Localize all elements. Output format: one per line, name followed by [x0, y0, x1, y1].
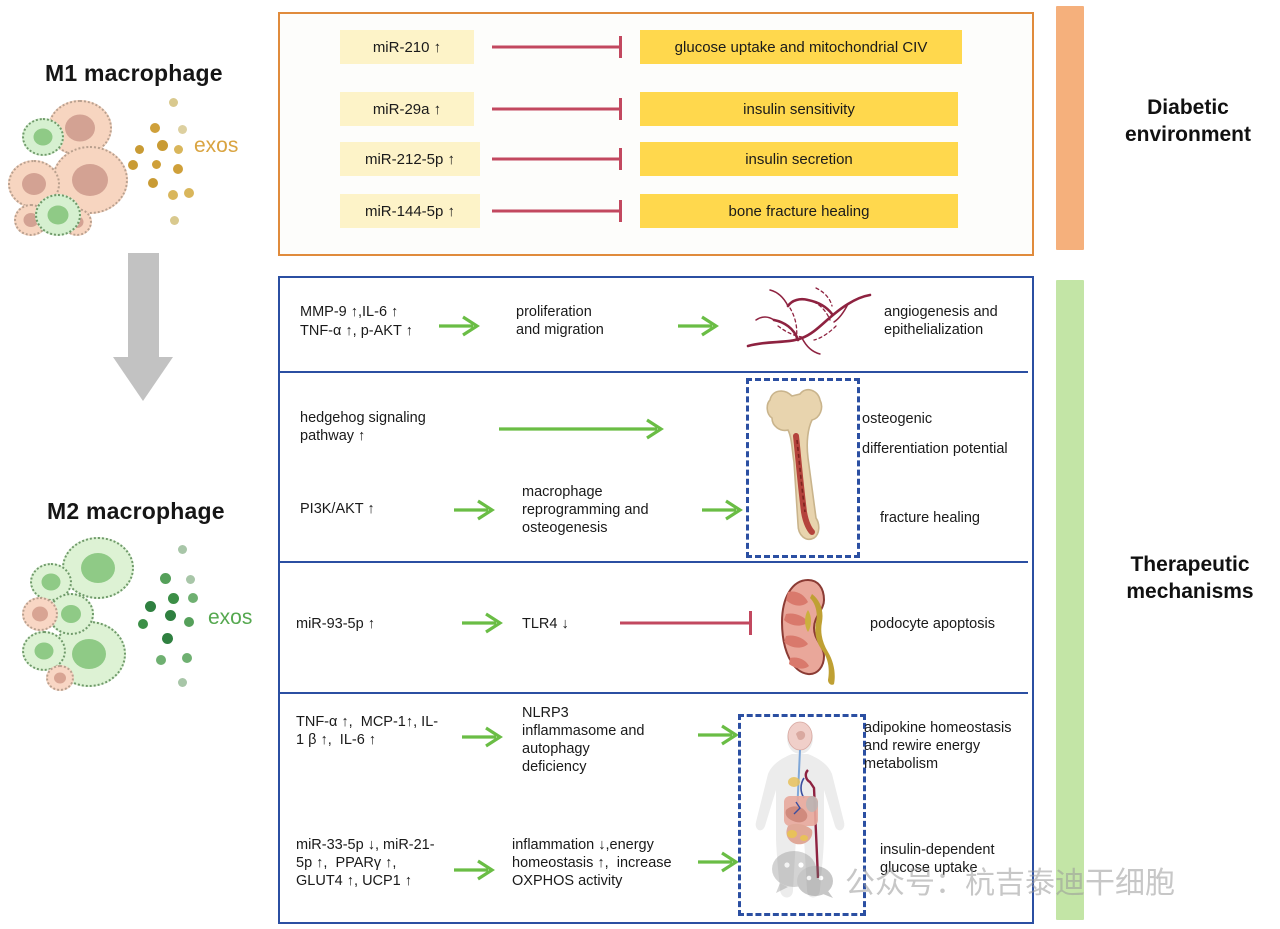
- therapeutic-mechanisms-panel: [278, 276, 1034, 924]
- green-arrow-icon: [696, 723, 744, 747]
- wechat-logo-icon: [770, 849, 838, 899]
- cell-m2-large-1: [62, 537, 134, 599]
- inhibition-connector: [492, 194, 622, 228]
- cell-m2-pink-1: [22, 597, 58, 631]
- target-box: glucose uptake and mitochondrial CIV: [640, 30, 962, 64]
- row1-outcome: angiogenesis and epithelialization: [884, 303, 998, 339]
- therapeutic-mechanisms-label: Therapeutic mechanisms: [1104, 551, 1276, 605]
- cell-m2-pink-2: [46, 665, 74, 691]
- mir-chip: miR-212-5p ↑: [340, 142, 480, 176]
- row1-factors-line2: TNF-α ↑, p-AKT ↑: [300, 322, 413, 340]
- blood-vessel-icon: [744, 282, 874, 360]
- row3-source: miR-93-5p ↑: [296, 615, 375, 633]
- mir-chip: miR-144-5p ↑: [340, 194, 480, 228]
- row4-effect-a: NLRP3 inflammasome and autophagy deficie…: [522, 704, 645, 776]
- watermark-text: 公众号：杭吉泰迪干细胞: [845, 858, 1175, 902]
- panel-row-divider: [280, 692, 1028, 694]
- diabetic-environment-label: Diabetic environment: [1102, 94, 1274, 148]
- row1-factors-line1: MMP-9 ↑,IL-6 ↑: [300, 303, 398, 321]
- row2-effect: macrophage reprogramming and osteogenesi…: [522, 483, 649, 537]
- row4-outcome-top: adipokine homeostasis and rewire energy …: [864, 719, 1012, 773]
- inhibition-connector: [492, 92, 622, 126]
- m1-exos-label: exos: [194, 134, 238, 158]
- mir-chip: miR-29a ↑: [340, 92, 474, 126]
- cell-m1-green-2: [35, 194, 81, 236]
- mir-chip: miR-210 ↑: [340, 30, 474, 64]
- row2-outcome-top: osteogenic: [862, 410, 932, 428]
- panel-row-divider: [280, 561, 1028, 563]
- inhibition-connector: [492, 30, 622, 64]
- row2-factor: PI3K/AKT ↑: [300, 500, 375, 518]
- row4-factors-a: TNF-α ↑, MCP-1↑, IL- 1 β ↑, IL-6 ↑: [296, 713, 438, 749]
- target-box: insulin sensitivity: [640, 92, 958, 126]
- m1-macrophage-title: M1 macrophage: [45, 60, 223, 87]
- row3-outcome: podocyte apoptosis: [870, 615, 995, 633]
- green-arrow-icon: [452, 858, 500, 882]
- green-arrow-icon: [676, 314, 724, 338]
- row2-pathway: hedgehog signaling pathway ↑: [300, 409, 426, 445]
- green-arrow-icon: [452, 498, 500, 522]
- kidney-icon: [778, 576, 850, 688]
- row2-outcome-bottom: fracture healing: [880, 509, 980, 527]
- green-arrow-icon: [700, 498, 748, 522]
- row4-factors-b: miR-33-5p ↓, miR-21- 5p ↑, PPARγ ↑, GLUT…: [296, 836, 435, 890]
- target-box: bone fracture healing: [640, 194, 958, 228]
- green-arrow-icon: [696, 850, 744, 874]
- target-box: insulin secretion: [640, 142, 958, 176]
- row1-effect: proliferation and migration: [516, 303, 604, 339]
- m1-exosome-vesicles: [130, 98, 210, 228]
- panel-row-divider: [280, 371, 1028, 373]
- row2-outcome-mid: differentiation potential: [862, 440, 1008, 458]
- m2-exos-label: exos: [208, 606, 252, 630]
- m2-macrophage-title: M2 macrophage: [47, 498, 225, 525]
- inhibition-connector: [492, 142, 622, 176]
- inhibition-connector: [620, 608, 752, 638]
- therapeutic-mechanisms-bar: [1056, 280, 1084, 920]
- m1-to-m2-arrow: [112, 253, 174, 401]
- cell-m1-green-1: [22, 118, 64, 156]
- row3-mediator: TLR4 ↓: [522, 615, 569, 633]
- green-arrow-icon: [460, 725, 508, 749]
- green-arrow-icon: [460, 611, 508, 635]
- femur-bone-icon: [762, 384, 836, 548]
- green-arrow-icon: [437, 314, 485, 338]
- diabetic-environment-bar: [1056, 6, 1084, 250]
- green-arrow-icon: [497, 417, 669, 441]
- row4-effect-b: inflammation ↓,energy homeostasis ↑, inc…: [512, 836, 672, 890]
